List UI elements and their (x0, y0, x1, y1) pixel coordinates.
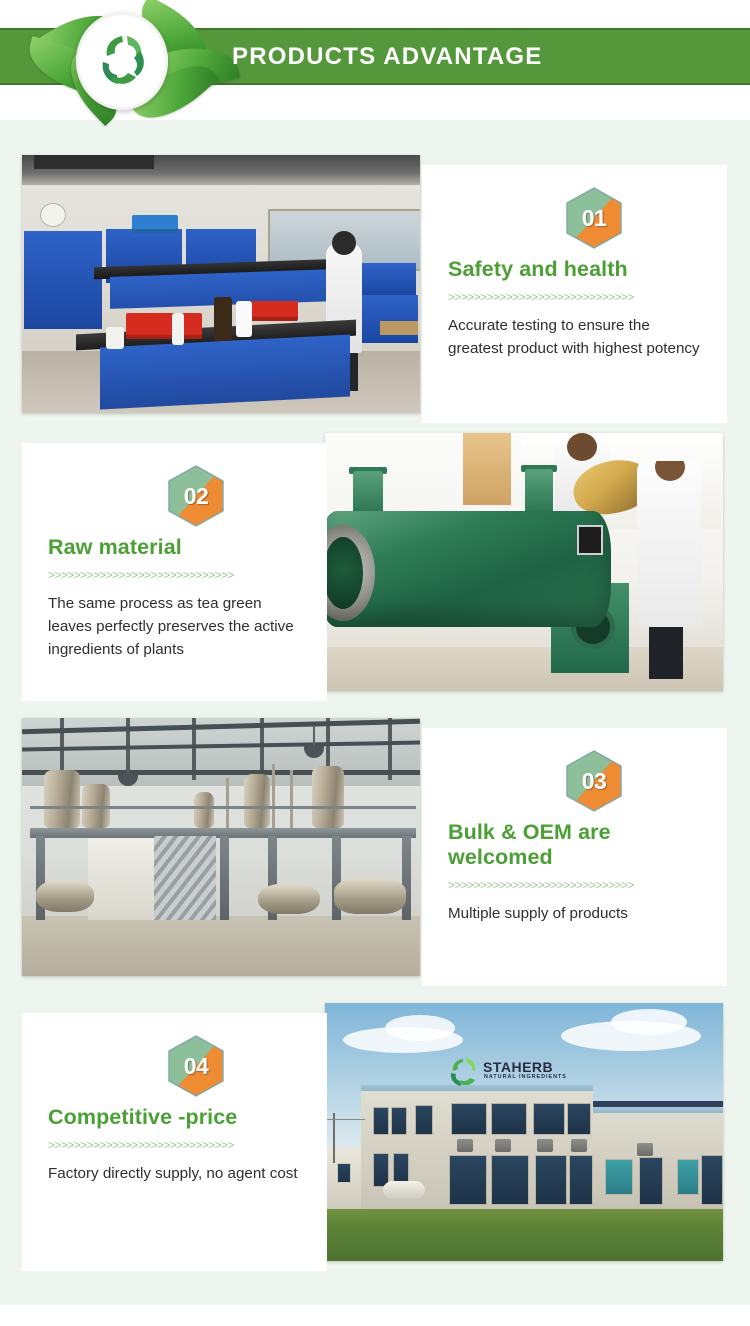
feature-title-04: Competitive -price (48, 1105, 301, 1130)
logo-circle-badge (76, 12, 168, 110)
staherb-logo-icon (447, 1057, 481, 1092)
feature-row-02: 02 Raw material >>>>>>>>>>>>>>>>>>>>>>>>… (0, 433, 750, 698)
products-advantage-page: PRODUCTS ADVANTAGE (0, 0, 750, 1326)
feature-description-04: Factory directly supply, no agent cost (48, 1162, 301, 1185)
page-title: PRODUCTS ADVANTAGE (232, 42, 543, 72)
leaf-recycle-logo-icon (89, 28, 155, 94)
feature-badge-04: 04 (168, 1035, 224, 1097)
feature-description-01: Accurate testing to ensure the greatest … (448, 314, 701, 360)
feature-number-02: 02 (168, 465, 224, 527)
feature-description-03: Multiple supply of products (448, 902, 701, 925)
feature-title-03: Bulk & OEM are welcomed (448, 820, 701, 870)
chevron-divider: >>>>>>>>>>>>>>>>>>>>>>>>>>>>> (448, 291, 701, 303)
brand-logo (14, 2, 229, 120)
staherb-brand-text: STAHERB (483, 1060, 553, 1074)
chevron-divider: >>>>>>>>>>>>>>>>>>>>>>>>>>>>> (48, 569, 301, 581)
feature-badge-01: 01 (566, 187, 622, 249)
feature-badge-02: 02 (168, 465, 224, 527)
staherb-tagline-text: NATURAL INGREDIENTS (484, 1074, 567, 1080)
feature-number-03: 03 (566, 750, 622, 812)
feature-card-02: 02 Raw material >>>>>>>>>>>>>>>>>>>>>>>>… (22, 443, 327, 701)
page-header: PRODUCTS ADVANTAGE (0, 0, 750, 120)
feature-image-04: STAHERB NATURAL INGREDIENTS (325, 1003, 723, 1261)
chevron-divider: >>>>>>>>>>>>>>>>>>>>>>>>>>>>> (448, 879, 701, 891)
feature-badge-03: 03 (566, 750, 622, 812)
feature-card-03: 03 Bulk & OEM are welcomed >>>>>>>>>>>>>… (422, 728, 727, 986)
feature-row-04: STAHERB NATURAL INGREDIENTS (0, 1003, 750, 1268)
feature-image-01 (22, 155, 420, 413)
feature-title-02: Raw material (48, 535, 301, 560)
feature-row-03: 03 Bulk & OEM are welcomed >>>>>>>>>>>>>… (0, 718, 750, 983)
feature-title-01: Safety and health (448, 257, 701, 282)
feature-image-03 (22, 718, 420, 976)
feature-card-04: 04 Competitive -price >>>>>>>>>>>>>>>>>>… (22, 1013, 327, 1271)
feature-number-04: 04 (168, 1035, 224, 1097)
chevron-divider: >>>>>>>>>>>>>>>>>>>>>>>>>>>>> (48, 1139, 301, 1151)
feature-row-01: 01 Safety and health >>>>>>>>>>>>>>>>>>>… (0, 155, 750, 420)
feature-image-02 (325, 433, 723, 691)
feature-number-01: 01 (566, 187, 622, 249)
feature-description-02: The same process as tea green leaves per… (48, 592, 301, 661)
feature-card-01: 01 Safety and health >>>>>>>>>>>>>>>>>>>… (422, 165, 727, 423)
